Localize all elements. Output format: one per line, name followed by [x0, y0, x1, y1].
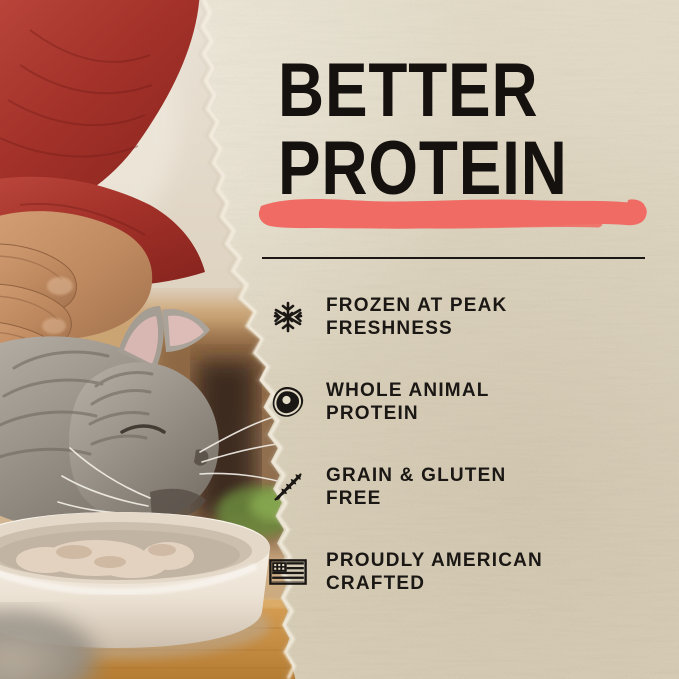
feature-label: FROZEN AT PEAK FRESHNESS [314, 288, 662, 340]
snowflake-icon [262, 288, 314, 342]
feature-item: PROUDLY AMERICAN CRAFTED [262, 543, 662, 628]
feature-item: FROZEN AT PEAK FRESHNESS [262, 288, 662, 373]
feature-item: GRAIN & GLUTEN FREE [262, 458, 662, 543]
feature-label: WHOLE ANIMAL PROTEIN [314, 373, 662, 425]
headline-line-2: PROTEIN [278, 132, 597, 206]
feature-item: WHOLE ANIMAL PROTEIN [262, 373, 662, 458]
feature-list: FROZEN AT PEAK FRESHNESS WHOLE ANIMAL PR… [262, 288, 662, 628]
section-divider [262, 257, 645, 259]
american-flag-icon [262, 543, 314, 597]
wheat-crossed-out-icon [262, 458, 314, 512]
advertisement-graphic: BETTER PROTEIN [0, 0, 679, 679]
feature-label: PROUDLY AMERICAN CRAFTED [314, 543, 662, 595]
headline: BETTER PROTEIN [278, 54, 658, 205]
steak-icon [262, 373, 314, 427]
headline-line-1: BETTER [278, 54, 597, 128]
feature-label: GRAIN & GLUTEN FREE [314, 458, 662, 510]
